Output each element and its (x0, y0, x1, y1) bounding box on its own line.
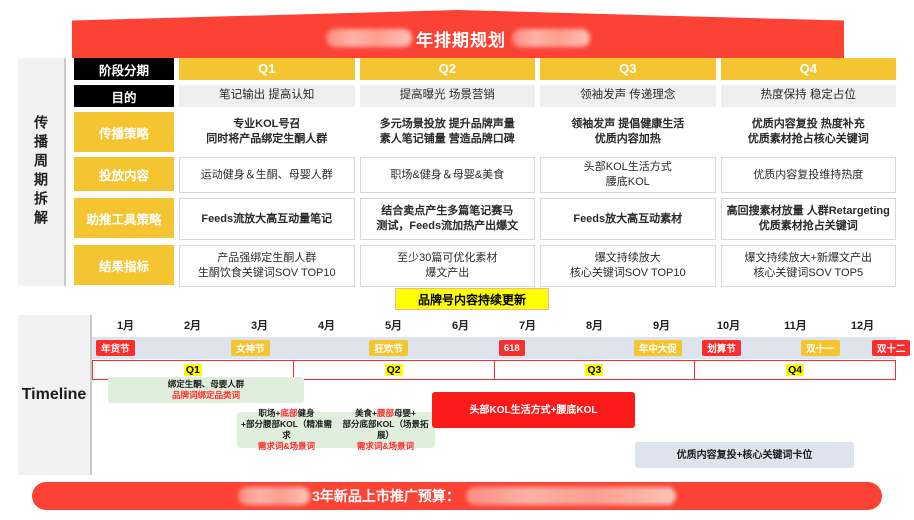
matrix-cell-line: 领袖发声 传递理念 (580, 88, 675, 104)
timeline-month-9: 9月 (628, 317, 695, 337)
timeline-month-2: 2月 (159, 317, 226, 337)
matrix-cell-strategy-q3: 领袖发声 提倡健康生活优质内容加热 (540, 112, 716, 152)
matrix-cell-content-q4: 优质内容复投维持热度 (721, 157, 897, 193)
timeline-q4-box: 优质内容复投+核心关键词卡位 (635, 442, 854, 468)
matrix-cell-line: 笔记输出 提高认知 (219, 88, 314, 104)
timeline-box-line: 职场+底部健身 (259, 408, 315, 419)
matrix-cell-purpose-q3: 领袖发声 传递理念 (540, 85, 716, 107)
timeline-box-line-tail: 母婴+ (394, 408, 416, 418)
timeline-quarter-q4: Q4 (695, 361, 895, 379)
matrix-cell-line: 生酮饮食关键词SOV TOP10 (198, 266, 336, 281)
timeline-month-12: 12月 (829, 317, 896, 337)
matrix-cell-line: 爆文持续放大+新爆文产出 (745, 251, 872, 266)
matrix-cell-tool-q2: 结合卖点产生多篇笔记赛马测试，Feeds流加热产出爆文 (360, 198, 536, 240)
matrix-row-result: 结果指标产品强绑定生酮人群生酮饮食关键词SOV TOP10至少30篇可优化素材爆… (74, 245, 896, 287)
matrix-row-purpose: 目的笔记输出 提高认知提高曝光 场景营销领袖发声 传递理念热度保持 稳定占位 (74, 85, 896, 107)
matrix-cell-line: Q1 (258, 60, 275, 78)
timeline-month-4: 4月 (293, 317, 360, 337)
matrix-row-header-purpose: 目的 (74, 85, 174, 107)
matrix-cell-stage-q4: Q4 (721, 58, 897, 80)
matrix-cell-line: 至少30篇可优化素材 (397, 251, 497, 266)
festival-badge-3: 618 (499, 340, 525, 356)
matrix-cell-line: 头部KOL生活方式 (584, 160, 672, 175)
matrix-cell-line: 优质内容复投 热度补充 (752, 117, 865, 132)
matrix-cell-line: 结合卖点产生多篇笔记赛马 (381, 204, 513, 219)
timeline-month-1: 1月 (92, 317, 159, 337)
matrix-cell-content-q2: 职场&健身＆母婴&美食 (360, 157, 536, 193)
timeline-box-split: 职场+底部健身+部分腰部KOL（精准需求需求词&场景词美食+腰部母婴+部分底部K… (237, 412, 435, 448)
matrix-row-strategy: 传播策略专业KOL号召同时将产品绑定生酮人群多元场景投放 提升品牌声量素人笔记铺… (74, 112, 896, 152)
matrix-cell-line: 腰底KOL (606, 175, 650, 190)
matrix-cell-line: 职场&健身＆母婴&美食 (390, 168, 504, 183)
matrix-cell-line: Q3 (619, 60, 636, 78)
timeline-section: Timeline 1月2月3月4月5月6月7月8月9月10月11月12月 年货节… (18, 315, 896, 475)
matrix-cell-line: 测试，Feeds流加热产出爆文 (376, 219, 518, 234)
section-label-breakdown-text: 传播周期拆解 (34, 115, 48, 229)
matrix-cell-purpose-q1: 笔记输出 提高认知 (179, 85, 355, 107)
matrix-cell-line: 同时将产品绑定生酮人群 (206, 132, 327, 147)
matrix-cell-tool-q3: Feeds放大高互动素材 (540, 198, 716, 240)
timeline-quarter-label: Q3 (585, 364, 603, 376)
brand-update-badge: 品牌号内容持续更新 (395, 288, 549, 310)
timeline-quarter-label: Q2 (385, 364, 403, 376)
festival-badge-5: 划算节 (702, 340, 741, 356)
timeline-box-line: 绑定生酮、母婴人群 (168, 379, 245, 390)
matrix-cell-line: 领袖发声 提倡健康生活 (571, 117, 684, 132)
matrix-cell-result-q4: 爆文持续放大+新爆文产出核心关键词SOV TOP5 (721, 245, 897, 287)
matrix-row-header-tool: 助推工具策略 (74, 198, 174, 238)
timeline-month-8: 8月 (561, 317, 628, 337)
matrix-cell-line: 核心关键词SOV TOP10 (570, 266, 686, 281)
matrix-cell-stage-q2: Q2 (360, 58, 536, 80)
matrix-cell-line: 提高曝光 场景营销 (400, 88, 495, 104)
timeline-month-10: 10月 (695, 317, 762, 337)
timeline-box-line: 部分底部KOL（场景拓展） (338, 419, 433, 441)
matrix-cell-stage-q3: Q3 (540, 58, 716, 80)
timeline-quarter-q2: Q2 (294, 361, 495, 379)
matrix-cell-line: 高回搜素材放量 人群Retargeting (727, 204, 890, 219)
timeline-month-axis: 1月2月3月4月5月6月7月8月9月10月11月12月 (92, 317, 896, 337)
matrix-cell-line: 素人笔记铺量 营造品牌口碑 (380, 132, 515, 147)
timeline-box-half-1: 美食+腰部母婴+部分底部KOL（场景拓展）需求词&场景词 (336, 412, 435, 448)
matrix-cell-line: 爆文产出 (425, 266, 469, 281)
matrix-cell-line: Feeds放大高互动素材 (573, 212, 682, 227)
festival-badge-2: 狂欢节 (369, 340, 408, 356)
redacted-block-title-left (326, 29, 412, 47)
timeline-q2-box: 职场+底部健身+部分腰部KOL（精准需求需求词&场景词美食+腰部母婴+部分底部K… (237, 412, 435, 448)
timeline-quarter-label: Q1 (184, 364, 202, 376)
timeline-box-line-accent: 底部 (280, 408, 297, 418)
timeline-box-line-part: 职场+ (259, 408, 281, 418)
matrix-cell-result-q3: 爆文持续放大核心关键词SOV TOP10 (540, 245, 716, 287)
matrix-cell-stage-q1: Q1 (179, 58, 355, 80)
matrix-cell-line: 核心关键词SOV TOP5 (753, 266, 863, 281)
strategy-matrix: 阶段分期Q1Q2Q3Q4目的笔记输出 提高认知提高曝光 场景营销领袖发声 传递理… (74, 58, 896, 292)
timeline-box-line: 头部KOL生活方式+腰底KOL (469, 404, 597, 417)
timeline-box-line-tail: 健身 (297, 408, 314, 418)
matrix-cell-strategy-q2: 多元场景投放 提升品牌声量素人笔记铺量 营造品牌口碑 (360, 112, 536, 152)
timeline-month-11: 11月 (762, 317, 829, 337)
matrix-row-header-strategy: 传播策略 (74, 112, 174, 152)
matrix-cell-line: 专业KOL号召 (233, 117, 300, 132)
matrix-cell-content-q1: 运动健身＆生酮、母婴人群 (179, 157, 355, 193)
title-banner: 年排期规划 (72, 10, 844, 58)
matrix-cell-tool-q1: Feeds流放大高互动量笔记 (179, 198, 355, 240)
matrix-cell-tool-q4: 高回搜素材放量 人群Retargeting优质素材抢占关键词 (721, 198, 897, 240)
matrix-cell-line: 运动健身＆生酮、母婴人群 (201, 168, 333, 183)
matrix-cell-line: 优质素材抢占关键词 (759, 219, 858, 234)
matrix-row-header-stage: 阶段分期 (74, 58, 174, 80)
matrix-cell-line: 产品强绑定生酮人群 (217, 251, 316, 266)
timeline-month-3: 3月 (226, 317, 293, 337)
matrix-cell-line: Q2 (439, 60, 456, 78)
timeline-box-line: 品牌词绑定品类词 (172, 390, 240, 401)
timeline-box-line: 美食+腰部母婴+ (355, 408, 416, 419)
timeline-quarter-label: Q4 (786, 364, 804, 376)
festival-badge-6: 双十一 (801, 340, 840, 356)
timeline-box-line-part: 美食+ (355, 408, 377, 418)
section-label-breakdown: 传播周期拆解 (18, 58, 66, 286)
matrix-cell-line: 热度保持 稳定占位 (761, 88, 856, 104)
timeline-label-box: Timeline (18, 315, 92, 475)
timeline-month-6: 6月 (427, 317, 494, 337)
matrix-cell-line: 多元场景投放 提升品牌声量 (380, 117, 515, 132)
timeline-month-7: 7月 (494, 317, 561, 337)
matrix-row-stage: 阶段分期Q1Q2Q3Q4 (74, 58, 896, 80)
budget-banner: 3年新品上市推广预算： (32, 482, 882, 510)
matrix-cell-purpose-q2: 提高曝光 场景营销 (360, 85, 536, 107)
timeline-q1-box: 绑定生酮、母婴人群品牌词绑定品类词 (108, 377, 304, 403)
matrix-cell-line: 优质素材抢占核心关键词 (748, 132, 869, 147)
page-title-text: 年排期规划 (416, 26, 506, 51)
redacted-block-budget-right (466, 487, 676, 505)
page-title: 年排期规划 (326, 26, 590, 51)
matrix-row-header-result: 结果指标 (74, 245, 174, 285)
timeline-quarter-q3: Q3 (495, 361, 696, 379)
redacted-block-budget-left (238, 487, 310, 505)
matrix-cell-content-q3: 头部KOL生活方式腰底KOL (540, 157, 716, 193)
matrix-cell-result-q1: 产品强绑定生酮人群生酮饮食关键词SOV TOP10 (179, 245, 355, 287)
timeline-festival-band: 年货节女神节狂欢节618年中大促划算节双十一双十二 (92, 337, 896, 359)
timeline-box-line: 优质内容复投+核心关键词卡位 (677, 449, 813, 462)
festival-badge-7: 双十二 (872, 340, 911, 356)
matrix-cell-line: 优质内容复投维持热度 (753, 168, 863, 183)
matrix-cell-result-q2: 至少30篇可优化素材爆文产出 (360, 245, 536, 287)
festival-badge-0: 年货节 (96, 340, 135, 356)
timeline-box-line: +部分腰部KOL（精准需求 (239, 419, 334, 441)
matrix-cell-line: Feeds流放大高互动量笔记 (201, 212, 332, 227)
timeline-box-line: 需求词&场景词 (258, 441, 315, 452)
timeline-month-5: 5月 (360, 317, 427, 337)
timeline-box-line: 需求词&场景词 (357, 441, 414, 452)
timeline-q3-box: 头部KOL生活方式+腰底KOL (432, 392, 635, 428)
matrix-cell-purpose-q4: 热度保持 稳定占位 (721, 85, 897, 107)
timeline-label: Timeline (22, 386, 87, 404)
matrix-cell-line: 优质内容加热 (595, 132, 661, 147)
budget-banner-label: 3年新品上市推广预算： (312, 486, 460, 506)
matrix-row-content: 投放内容运动健身＆生酮、母婴人群职场&健身＆母婴&美食头部KOL生活方式腰底KO… (74, 157, 896, 193)
festival-badge-4: 年中大促 (634, 340, 682, 356)
matrix-row-header-content: 投放内容 (74, 157, 174, 191)
redacted-block-title-right (512, 29, 590, 47)
timeline-box-line-accent: 腰部 (377, 408, 394, 418)
matrix-cell-strategy-q4: 优质内容复投 热度补充优质素材抢占核心关键词 (721, 112, 897, 152)
matrix-cell-strategy-q1: 专业KOL号召同时将产品绑定生酮人群 (179, 112, 355, 152)
matrix-cell-line: 爆文持续放大 (595, 251, 661, 266)
festival-badge-1: 女神节 (231, 340, 270, 356)
matrix-cell-line: Q4 (800, 60, 817, 78)
matrix-row-tool: 助推工具策略Feeds流放大高互动量笔记结合卖点产生多篇笔记赛马测试，Feeds… (74, 198, 896, 240)
timeline-box-half-0: 职场+底部健身+部分腰部KOL（精准需求需求词&场景词 (237, 412, 336, 448)
budget-banner-text: 3年新品上市推广预算： (238, 486, 676, 506)
